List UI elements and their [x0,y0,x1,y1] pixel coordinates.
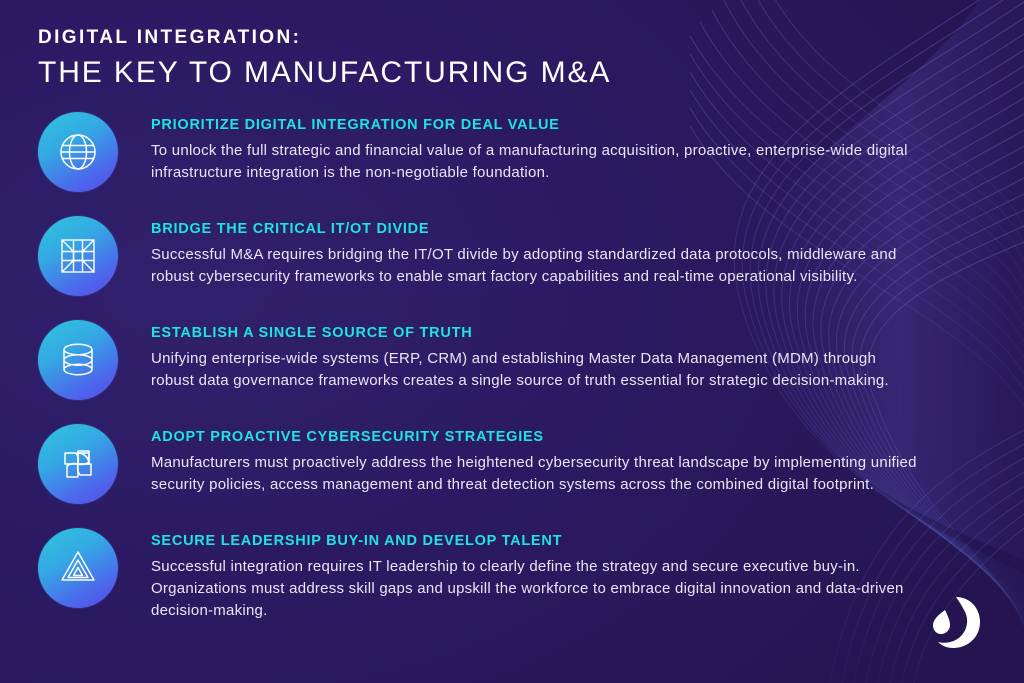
list-item-body: SECURE LEADERSHIP BUY-IN AND DEVELOP TAL… [118,528,938,623]
list-item: ADOPT PROACTIVE CYBERSECURITY STRATEGIES… [38,424,938,508]
nested-triangles-icon [55,545,101,591]
list-item-description: Successful integration requires IT leade… [151,556,921,622]
icon-badge [38,424,118,504]
database-stack-icon [55,337,101,383]
list-item-description: Successful M&A requires bridging the IT/… [151,244,921,288]
network-grid-icon [56,234,100,278]
list-item-body: ADOPT PROACTIVE CYBERSECURITY STRATEGIES… [118,424,938,496]
globe-sphere-icon [55,129,101,175]
key-points-list: PRIORITIZE DIGITAL INTEGRATION FOR DEAL … [38,112,938,623]
page-header: DIGITAL INTEGRATION: THE KEY TO MANUFACT… [38,26,858,90]
list-item-body: ESTABLISH A SINGLE SOURCE OF TRUTH Unify… [118,320,938,392]
list-item-description: Unifying enterprise-wide systems (ERP, C… [151,348,921,392]
list-item-title: ESTABLISH A SINGLE SOURCE OF TRUTH [151,325,938,342]
brand-logo-mark [922,591,986,655]
icon-badge [38,216,118,296]
page-title: THE KEY TO MANUFACTURING M&A [38,56,858,91]
list-item: SECURE LEADERSHIP BUY-IN AND DEVELOP TAL… [38,528,938,623]
list-item-title: PRIORITIZE DIGITAL INTEGRATION FOR DEAL … [151,117,938,134]
list-item-description: To unlock the full strategic and financi… [151,140,921,184]
icon-badge [38,320,118,400]
icon-badge [38,112,118,192]
list-item: ESTABLISH A SINGLE SOURCE OF TRUTH Unify… [38,320,938,404]
pinwheel-petals-icon [55,441,101,487]
list-item-body: BRIDGE THE CRITICAL IT/OT DIVIDE Success… [118,216,938,288]
list-item: PRIORITIZE DIGITAL INTEGRATION FOR DEAL … [38,112,938,196]
icon-badge [38,528,118,608]
list-item-body: PRIORITIZE DIGITAL INTEGRATION FOR DEAL … [118,112,938,184]
eyebrow-text: DIGITAL INTEGRATION: [38,26,858,50]
infographic-canvas: DIGITAL INTEGRATION: THE KEY TO MANUFACT… [0,0,1024,683]
list-item: BRIDGE THE CRITICAL IT/OT DIVIDE Success… [38,216,938,300]
list-item-description: Manufacturers must proactively address t… [151,452,921,496]
list-item-title: SECURE LEADERSHIP BUY-IN AND DEVELOP TAL… [151,533,938,550]
list-item-title: ADOPT PROACTIVE CYBERSECURITY STRATEGIES [151,429,938,446]
list-item-title: BRIDGE THE CRITICAL IT/OT DIVIDE [151,221,938,238]
